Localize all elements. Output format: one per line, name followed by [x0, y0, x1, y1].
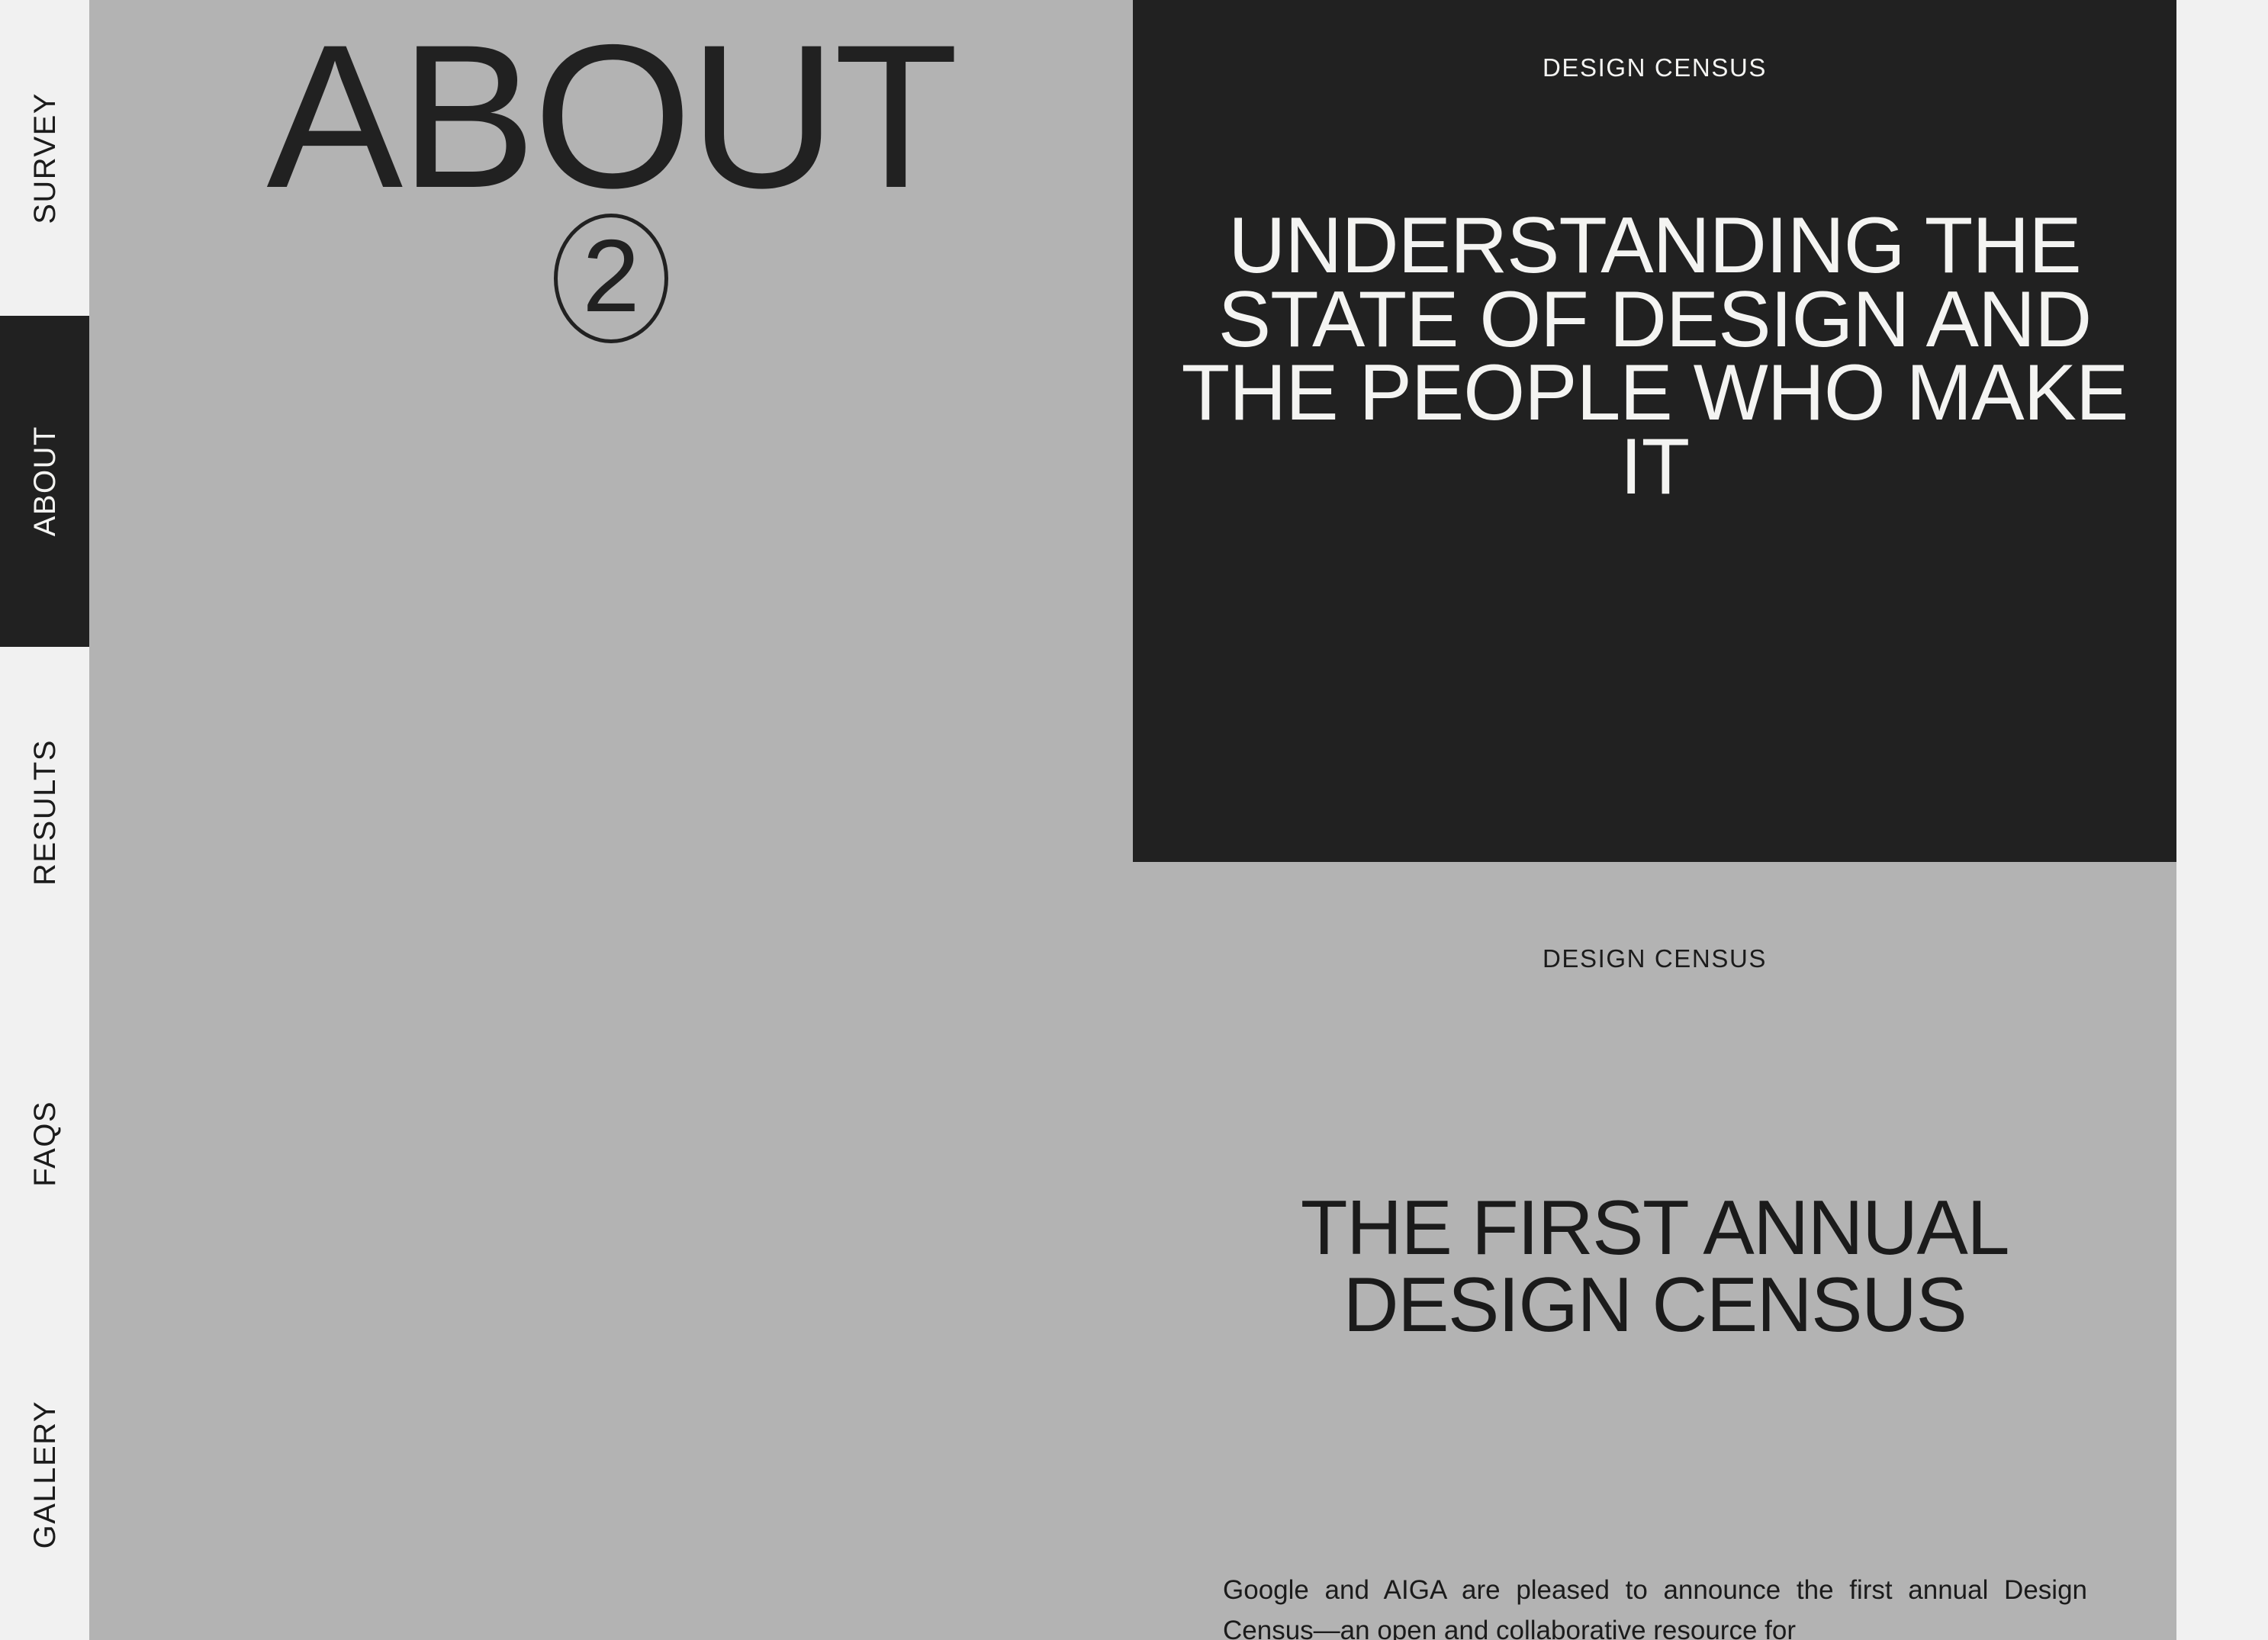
section-number-badge: 2 [554, 214, 668, 343]
right-edge-strip [2176, 0, 2268, 1640]
sidebar-item-survey-label: SURVEY [30, 92, 60, 224]
sidebar-item-faqs-label: FAQS [30, 1101, 60, 1187]
about-page: SURVEY ABOUT RESULTS FAQS GALLERY ABOUT … [0, 0, 2268, 1640]
sidebar-item-results-label: RESULTS [30, 739, 60, 886]
sidebar-item-faqs[interactable]: FAQS [0, 978, 89, 1309]
sidebar-item-gallery-label: GALLERY [30, 1400, 60, 1548]
sidebar-item-gallery[interactable]: GALLERY [0, 1309, 89, 1640]
hero-eyebrow: DESIGN CENSUS [1133, 0, 2176, 80]
section-header: ABOUT 2 [89, 0, 1133, 343]
sidebar-item-results[interactable]: RESULTS [0, 647, 89, 978]
content-eyebrow: DESIGN CENSUS [1133, 862, 2176, 971]
page-title: ABOUT [89, 0, 1133, 218]
sidebar-item-survey[interactable]: SURVEY [0, 0, 89, 316]
content-title: THE FIRST ANNUAL DESIGN CENSUS [1133, 1190, 2176, 1344]
sidebar-nav: SURVEY ABOUT RESULTS FAQS GALLERY [0, 0, 89, 1640]
section-number-wrapper: 2 [89, 214, 1133, 343]
content-body-paragraph: Google and AIGA are pleased to announce … [1223, 1570, 2087, 1640]
hero-panel: DESIGN CENSUS UNDERSTANDING THE STATE OF… [1133, 0, 2176, 862]
sidebar-item-about[interactable]: ABOUT [0, 316, 89, 647]
sidebar-item-about-label: ABOUT [30, 426, 60, 536]
content-column: DESIGN CENSUS THE FIRST ANNUAL DESIGN CE… [1133, 862, 2176, 971]
hero-headline: UNDERSTANDING THE STATE OF DESIGN AND TH… [1133, 209, 2176, 504]
